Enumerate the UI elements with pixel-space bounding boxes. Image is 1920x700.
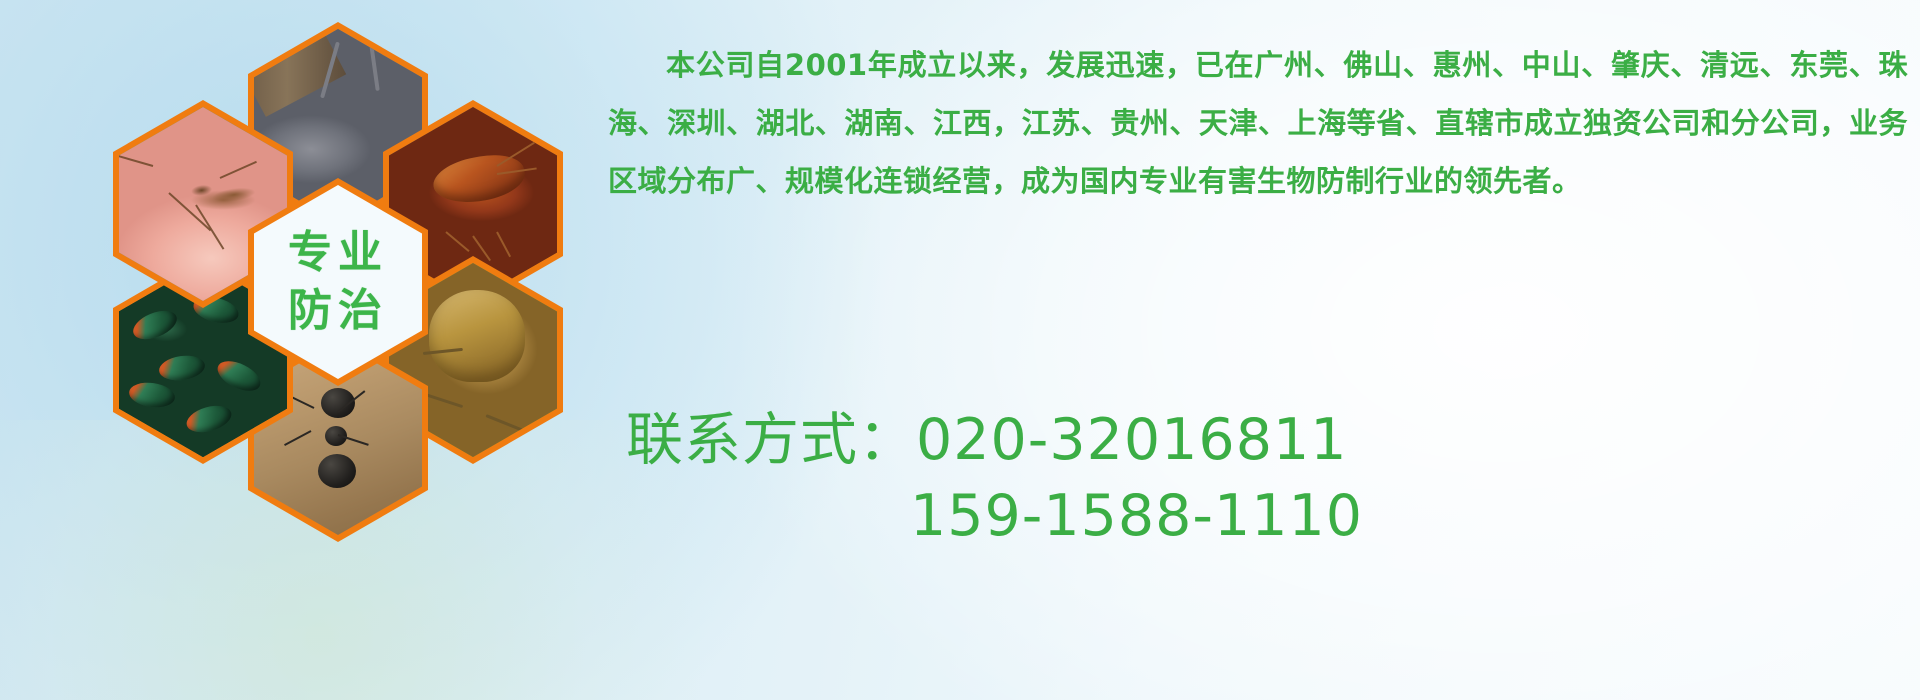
cockroach-leg-3 <box>496 232 511 258</box>
company-intro: 本公司自2001年成立以来，发展迅速，已在广州、佛山、惠州、中山、肇庆、清远、东… <box>608 36 1908 210</box>
slogan-line-1: 专业 <box>288 224 388 282</box>
fly-1 <box>130 306 182 345</box>
contact-line-landline[interactable]: 联系方式：020-32016811 <box>626 402 1626 478</box>
cockroach-leg-1 <box>445 231 469 252</box>
stink-bug-shell <box>429 290 525 382</box>
fly-6 <box>184 401 235 437</box>
promo-banner: 专业 防治 本公司自2001年成立以来，发展迅速，已在广州、佛山、惠州、中山、肇… <box>0 0 1920 700</box>
contact-label: 联系方式： <box>626 407 916 473</box>
hex-inner: 专业 防治 <box>254 185 422 379</box>
content-column: 本公司自2001年成立以来，发展迅速，已在广州、佛山、惠州、中山、肇庆、清远、东… <box>608 0 1920 700</box>
honeycomb-gallery: 专业 防治 <box>78 8 598 568</box>
mosquito-leg-3 <box>119 152 153 167</box>
fly-4 <box>214 355 266 397</box>
rat-tail-right <box>368 37 379 91</box>
contact-line-mobile[interactable]: 159-1588-1110 <box>626 478 1626 554</box>
fly-5 <box>128 380 177 410</box>
fly-3 <box>158 353 207 383</box>
phone-mobile[interactable]: 159-1588-1110 <box>910 483 1363 549</box>
plank-shape <box>254 29 346 117</box>
company-intro-text: 本公司自2001年成立以来，发展迅速，已在广州、佛山、惠州、中山、肇庆、清远、东… <box>608 36 1908 210</box>
ant-abdomen <box>318 454 356 488</box>
stink-bug-leg-3 <box>486 414 528 433</box>
mosquito-body <box>166 159 265 227</box>
ant-leg-3 <box>284 430 311 446</box>
phone-landline[interactable]: 020-32016811 <box>916 407 1347 473</box>
cockroach-body <box>430 150 528 209</box>
slogan-line-2: 防治 <box>288 282 388 340</box>
slogan: 专业 防治 <box>288 224 388 340</box>
contact-block: 联系方式：020-32016811 159-1588-1110 <box>626 402 1626 554</box>
